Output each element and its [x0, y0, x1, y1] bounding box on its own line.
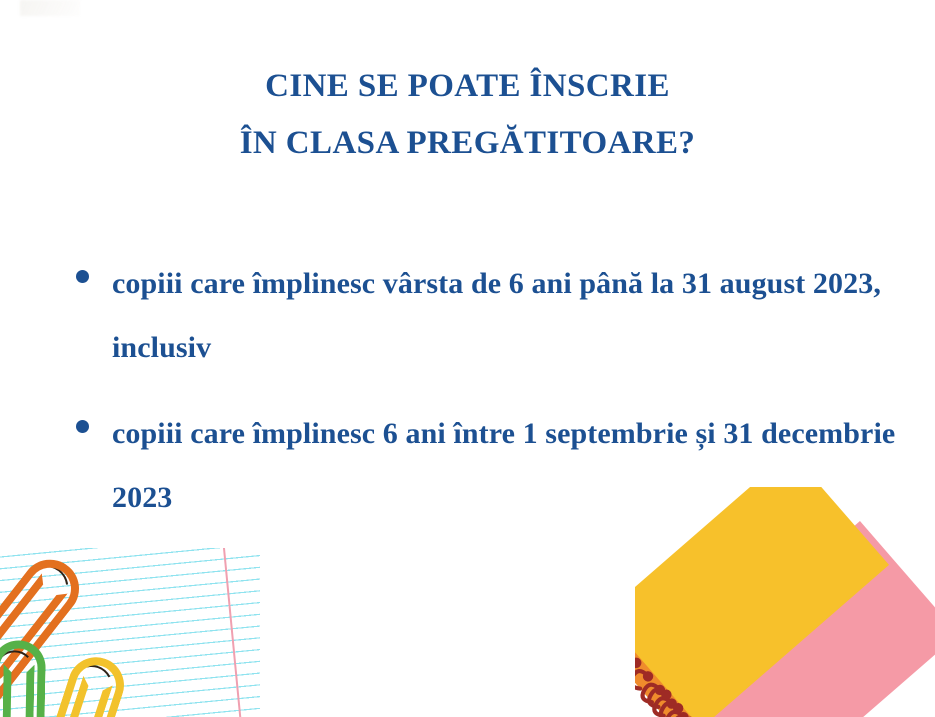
title-line-2: ÎN CLASA PREGĂTITOARE? [0, 115, 935, 172]
title-line-1: CINE SE POATE ÎNSCRIE [0, 58, 935, 115]
bullet-dot-icon [76, 420, 89, 433]
scan-artifact [20, 0, 80, 16]
bullet-dot-icon [76, 270, 89, 283]
spiral-notebooks-decoration [635, 487, 935, 717]
page-title: CINE SE POATE ÎNSCRIE ÎN CLASA PREGĂTITO… [0, 58, 935, 172]
list-item-text: copiii care împlinesc vârsta de 6 ani pâ… [112, 252, 915, 380]
paperclip-inner-loop [1, 664, 34, 717]
slide-canvas: CINE SE POATE ÎNSCRIE ÎN CLASA PREGĂTITO… [0, 0, 935, 717]
list-item: copiii care împlinesc vârsta de 6 ani pâ… [70, 252, 915, 380]
